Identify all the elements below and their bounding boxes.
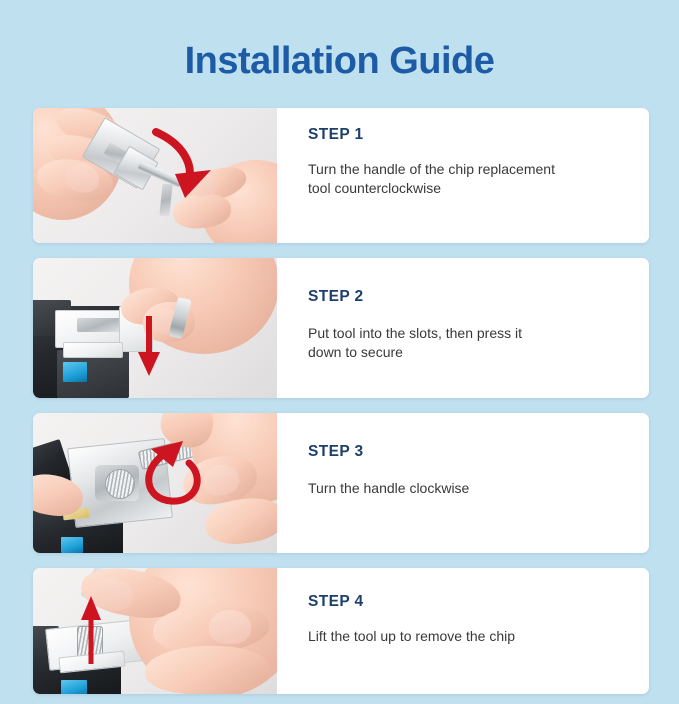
arrow-up-icon xyxy=(33,568,277,694)
step-1-text: STEP 1 Turn the handle of the chip repla… xyxy=(277,108,649,243)
step-card-2: STEP 2 Put tool into the slots, then pre… xyxy=(33,258,649,398)
step-4-text: STEP 4 Lift the tool up to remove the ch… xyxy=(277,568,649,694)
step-card-3: STEP 3 Turn the handle clockwise xyxy=(33,413,649,553)
step-1-title: STEP 1 xyxy=(308,126,625,144)
step-3-description: Turn the handle clockwise xyxy=(308,479,558,498)
step-1-description: Turn the handle of the chip replacement … xyxy=(308,160,558,197)
step-4-title: STEP 4 xyxy=(308,593,625,611)
step-card-1: STEP 1 Turn the handle of the chip repla… xyxy=(33,108,649,243)
step-2-photo xyxy=(33,258,277,398)
installation-guide-page: Installation Guide xyxy=(0,25,679,704)
circular-arrow-clockwise-icon xyxy=(33,413,277,553)
step-3-photo xyxy=(33,413,277,553)
curved-arrow-counterclockwise-icon xyxy=(33,108,277,243)
step-1-photo xyxy=(33,108,277,243)
step-2-text: STEP 2 Put tool into the slots, then pre… xyxy=(277,258,649,398)
step-2-description: Put tool into the slots, then press it d… xyxy=(308,324,558,361)
step-2-title: STEP 2 xyxy=(308,288,625,306)
page-title: Installation Guide xyxy=(0,25,679,90)
step-3-text: STEP 3 Turn the handle clockwise xyxy=(277,413,649,553)
step-4-photo xyxy=(33,568,277,694)
arrow-down-icon xyxy=(33,258,277,398)
step-4-description: Lift the tool up to remove the chip xyxy=(308,627,558,646)
step-3-title: STEP 3 xyxy=(308,443,625,461)
steps-list: STEP 1 Turn the handle of the chip repla… xyxy=(33,108,649,694)
step-card-4: STEP 4 Lift the tool up to remove the ch… xyxy=(33,568,649,694)
